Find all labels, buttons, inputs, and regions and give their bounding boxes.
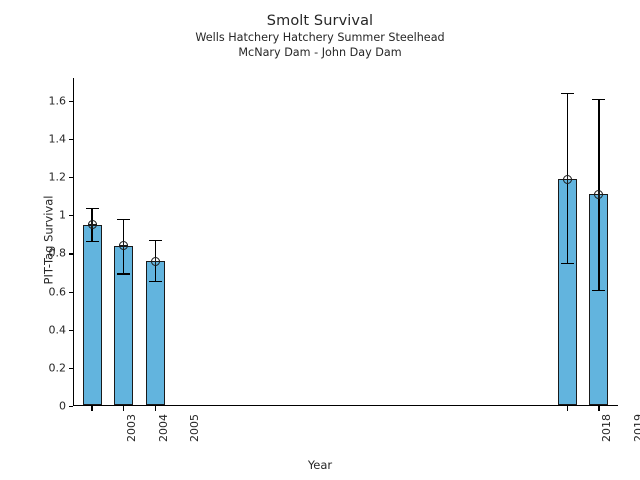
chart-subtitle-2: McNary Dam - John Day Dam — [0, 46, 640, 61]
y-tick-mark — [69, 215, 74, 216]
x-tick-mark — [155, 406, 156, 411]
data-point-marker — [563, 175, 572, 184]
chart-title-block: Smolt Survival Wells Hatchery Hatchery S… — [0, 12, 640, 61]
y-tick-mark — [69, 292, 74, 293]
y-tick-mark — [69, 406, 74, 407]
y-tick-label: 1 — [59, 209, 66, 222]
error-bar-cap-upper — [149, 240, 162, 241]
y-axis-line — [73, 78, 74, 406]
y-tick-label: 1.6 — [49, 94, 67, 107]
x-tick-label: 2018 — [600, 414, 613, 442]
x-tick-mark — [123, 406, 124, 411]
y-tick-mark — [69, 101, 74, 102]
x-tick-mark — [91, 406, 92, 411]
error-bar-cap-lower — [149, 281, 162, 282]
plot-area: 00.20.40.60.811.21.41.6 2003200420052018… — [73, 78, 618, 406]
y-tick-label: 1.2 — [49, 171, 67, 184]
error-bar-cap-upper — [561, 93, 574, 94]
error-bar-cap-lower — [592, 290, 605, 291]
error-bar-cap-lower — [561, 263, 574, 264]
error-bar-cap-upper — [592, 99, 605, 100]
x-tick-label: 2004 — [157, 414, 170, 442]
error-bar-cap-upper — [117, 219, 130, 220]
bar — [146, 261, 165, 405]
y-tick-mark — [69, 139, 74, 140]
x-tick-label: 2005 — [188, 414, 201, 442]
y-tick-label: 0.2 — [49, 361, 67, 374]
y-tick-mark — [69, 177, 74, 178]
x-axis-label: Year — [0, 458, 640, 472]
y-tick-label: 0.6 — [49, 285, 67, 298]
y-tick-label: 0 — [59, 400, 66, 413]
error-bar-cap-lower — [117, 273, 130, 274]
error-bar-cap-lower — [86, 241, 99, 242]
y-tick-label: 1.4 — [49, 133, 67, 146]
chart-title: Smolt Survival — [0, 12, 640, 31]
x-tick-label: 2003 — [125, 414, 138, 442]
chart-figure: Smolt Survival Wells Hatchery Hatchery S… — [0, 0, 640, 480]
data-point-marker — [151, 257, 160, 266]
y-axis-label: PIT-Tag Survival — [41, 196, 55, 285]
error-bar-cap-upper — [86, 208, 99, 209]
y-tick-mark — [69, 368, 74, 369]
y-tick-label: 0.4 — [49, 323, 67, 336]
y-tick-mark — [69, 330, 74, 331]
x-tick-mark — [567, 406, 568, 411]
x-tick-label: 2019 — [632, 414, 640, 442]
bar — [83, 225, 102, 405]
data-point-marker — [88, 220, 97, 229]
chart-subtitle-1: Wells Hatchery Hatchery Summer Steelhead — [0, 31, 640, 46]
y-tick-mark — [69, 253, 74, 254]
x-tick-mark — [598, 406, 599, 411]
